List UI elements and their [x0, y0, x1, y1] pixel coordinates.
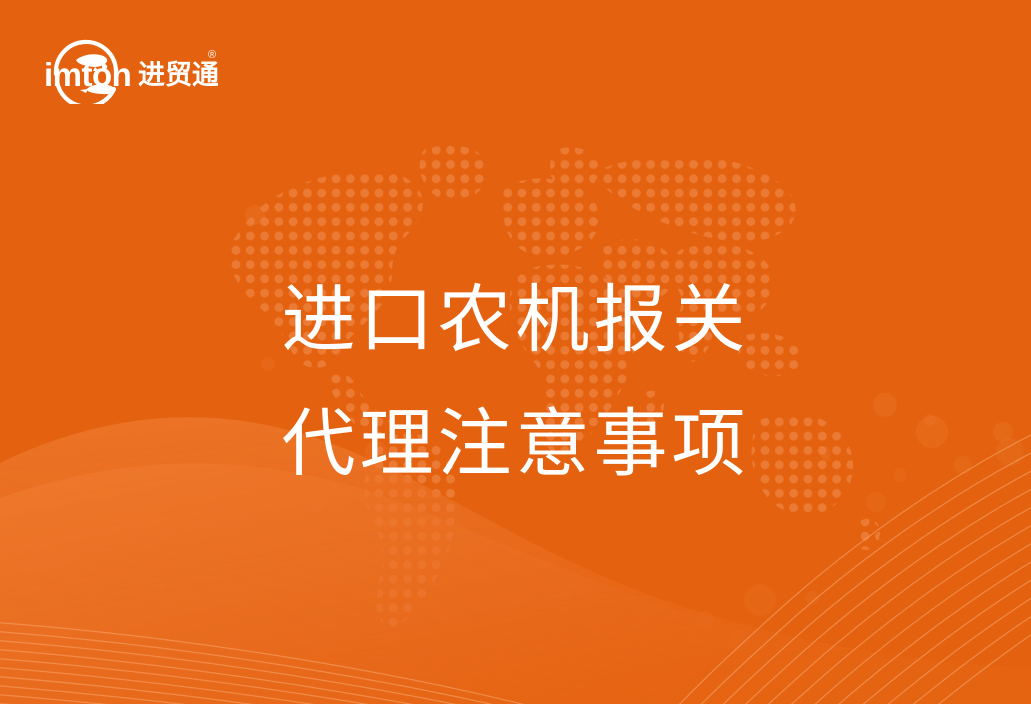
background-decoration: [0, 0, 1031, 704]
logo-latin-text: imton: [44, 56, 131, 93]
slide-canvas: imton 进贸通 ® imton 进贸通 ® 进口农机报关 代理注意事项: [0, 0, 1031, 704]
logo-chinese-text: 进贸通: [138, 60, 218, 90]
logo-artwork: imton 进贸通 ®: [42, 26, 218, 104]
logo-trademark-symbol: ®: [208, 49, 216, 61]
imton-jinmaotong-logo[interactable]: imton 进贸通 ® imton 进贸通 ®: [42, 26, 218, 104]
